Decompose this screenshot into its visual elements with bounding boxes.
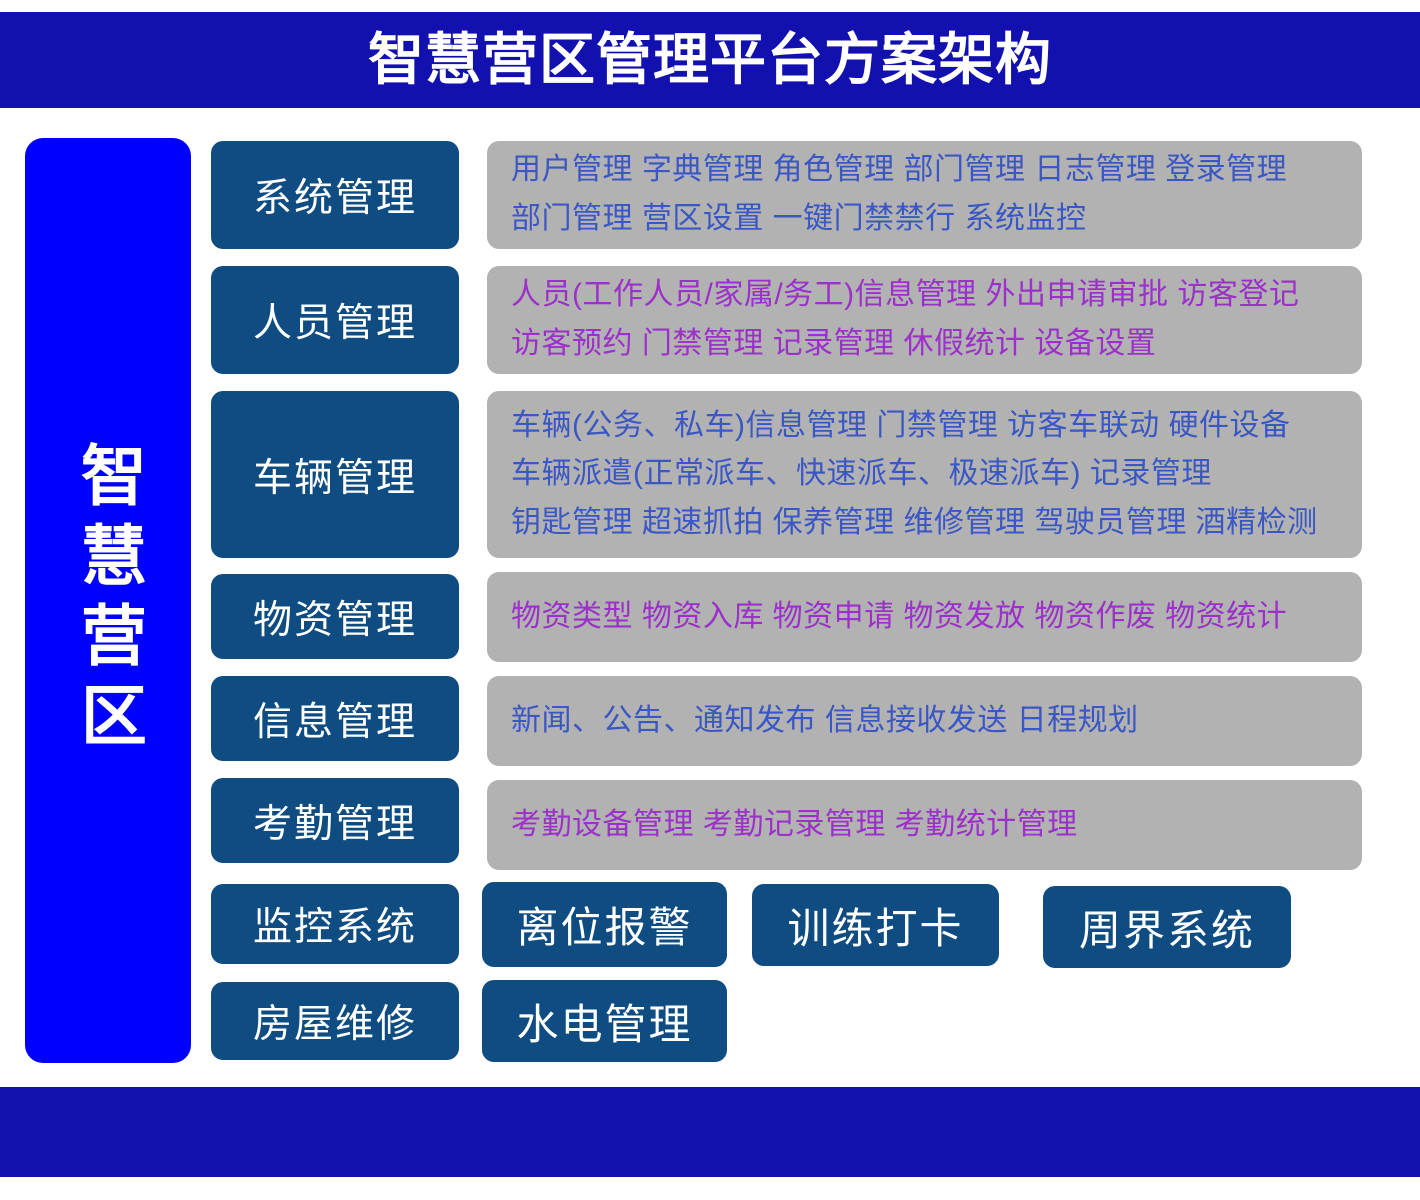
footer-banner xyxy=(0,1087,1420,1177)
panel-line: 车辆(公务、私车)信息管理 门禁管理 访客车联动 硬件设备 xyxy=(511,402,1338,451)
nav-button-label: 人员管理 xyxy=(253,292,417,348)
tile-label: 水电管理 xyxy=(516,991,692,1052)
nav-button-personnel-management[interactable]: 人员管理 xyxy=(211,266,459,374)
content-panel-vehicle-management: 车辆(公务、私车)信息管理 门禁管理 访客车联动 硬件设备 车辆派遣(正常派车、… xyxy=(487,391,1362,558)
tile-label: 房屋维修 xyxy=(253,993,417,1049)
nav-button-label: 物资管理 xyxy=(253,589,417,645)
panel-line: 钥匙管理 超速抓拍 保养管理 维修管理 驾驶员管理 酒精检测 xyxy=(511,499,1338,548)
content-panel-information-management: 新闻、公告、通知发布 信息接收发送 日程规划 xyxy=(487,676,1362,766)
panel-line: 用户管理 字典管理 角色管理 部门管理 日志管理 登录管理 xyxy=(511,146,1338,195)
nav-button-system-management[interactable]: 系统管理 xyxy=(211,141,459,249)
tile-label: 监控系统 xyxy=(253,896,417,952)
tile-off-post-alarm[interactable]: 离位报警 xyxy=(482,882,727,967)
nav-button-label: 车辆管理 xyxy=(253,447,417,503)
tile-label: 训练打卡 xyxy=(787,895,963,956)
panel-line: 人员(工作人员/家属/务工)信息管理 外出申请审批 访客登记 xyxy=(511,271,1338,320)
content-panel-personnel-management: 人员(工作人员/家属/务工)信息管理 外出申请审批 访客登记 访客预约 门禁管理… xyxy=(487,266,1362,374)
panel-line: 访客预约 门禁管理 记录管理 休假统计 设备设置 xyxy=(511,320,1338,369)
content-panel-material-management: 物资类型 物资入库 物资申请 物资发放 物资作废 物资统计 xyxy=(487,572,1362,662)
content-panel-attendance-management: 考勤设备管理 考勤记录管理 考勤统计管理 xyxy=(487,780,1362,870)
nav-button-attendance-management[interactable]: 考勤管理 xyxy=(211,778,459,863)
nav-button-label: 考勤管理 xyxy=(253,793,417,849)
tile-label: 周界系统 xyxy=(1079,897,1255,958)
panel-line: 考勤设备管理 考勤记录管理 考勤统计管理 xyxy=(511,801,1338,850)
nav-button-information-management[interactable]: 信息管理 xyxy=(211,676,459,761)
tile-label: 离位报警 xyxy=(516,894,692,955)
nav-button-label: 系统管理 xyxy=(253,167,417,223)
panel-line: 车辆派遣(正常派车、快速派车、极速派车) 记录管理 xyxy=(511,450,1338,499)
panel-line: 新闻、公告、通知发布 信息接收发送 日程规划 xyxy=(511,697,1338,746)
tile-utilities-management[interactable]: 水电管理 xyxy=(482,980,727,1062)
architecture-board: 系统管理 用户管理 字典管理 角色管理 部门管理 日志管理 登录管理 部门管理 … xyxy=(0,0,1420,1200)
panel-line: 物资类型 物资入库 物资申请 物资发放 物资作废 物资统计 xyxy=(511,593,1338,642)
tile-training-checkin[interactable]: 训练打卡 xyxy=(752,884,999,966)
tile-surveillance-system[interactable]: 监控系统 xyxy=(211,884,459,964)
nav-button-vehicle-management[interactable]: 车辆管理 xyxy=(211,391,459,558)
nav-button-label: 信息管理 xyxy=(253,691,417,747)
nav-button-material-management[interactable]: 物资管理 xyxy=(211,574,459,659)
tile-house-maintenance[interactable]: 房屋维修 xyxy=(211,982,459,1060)
panel-line: 部门管理 营区设置 一键门禁禁行 系统监控 xyxy=(511,195,1338,244)
content-panel-system-management: 用户管理 字典管理 角色管理 部门管理 日志管理 登录管理 部门管理 营区设置 … xyxy=(487,141,1362,249)
tile-perimeter-system[interactable]: 周界系统 xyxy=(1043,886,1291,968)
